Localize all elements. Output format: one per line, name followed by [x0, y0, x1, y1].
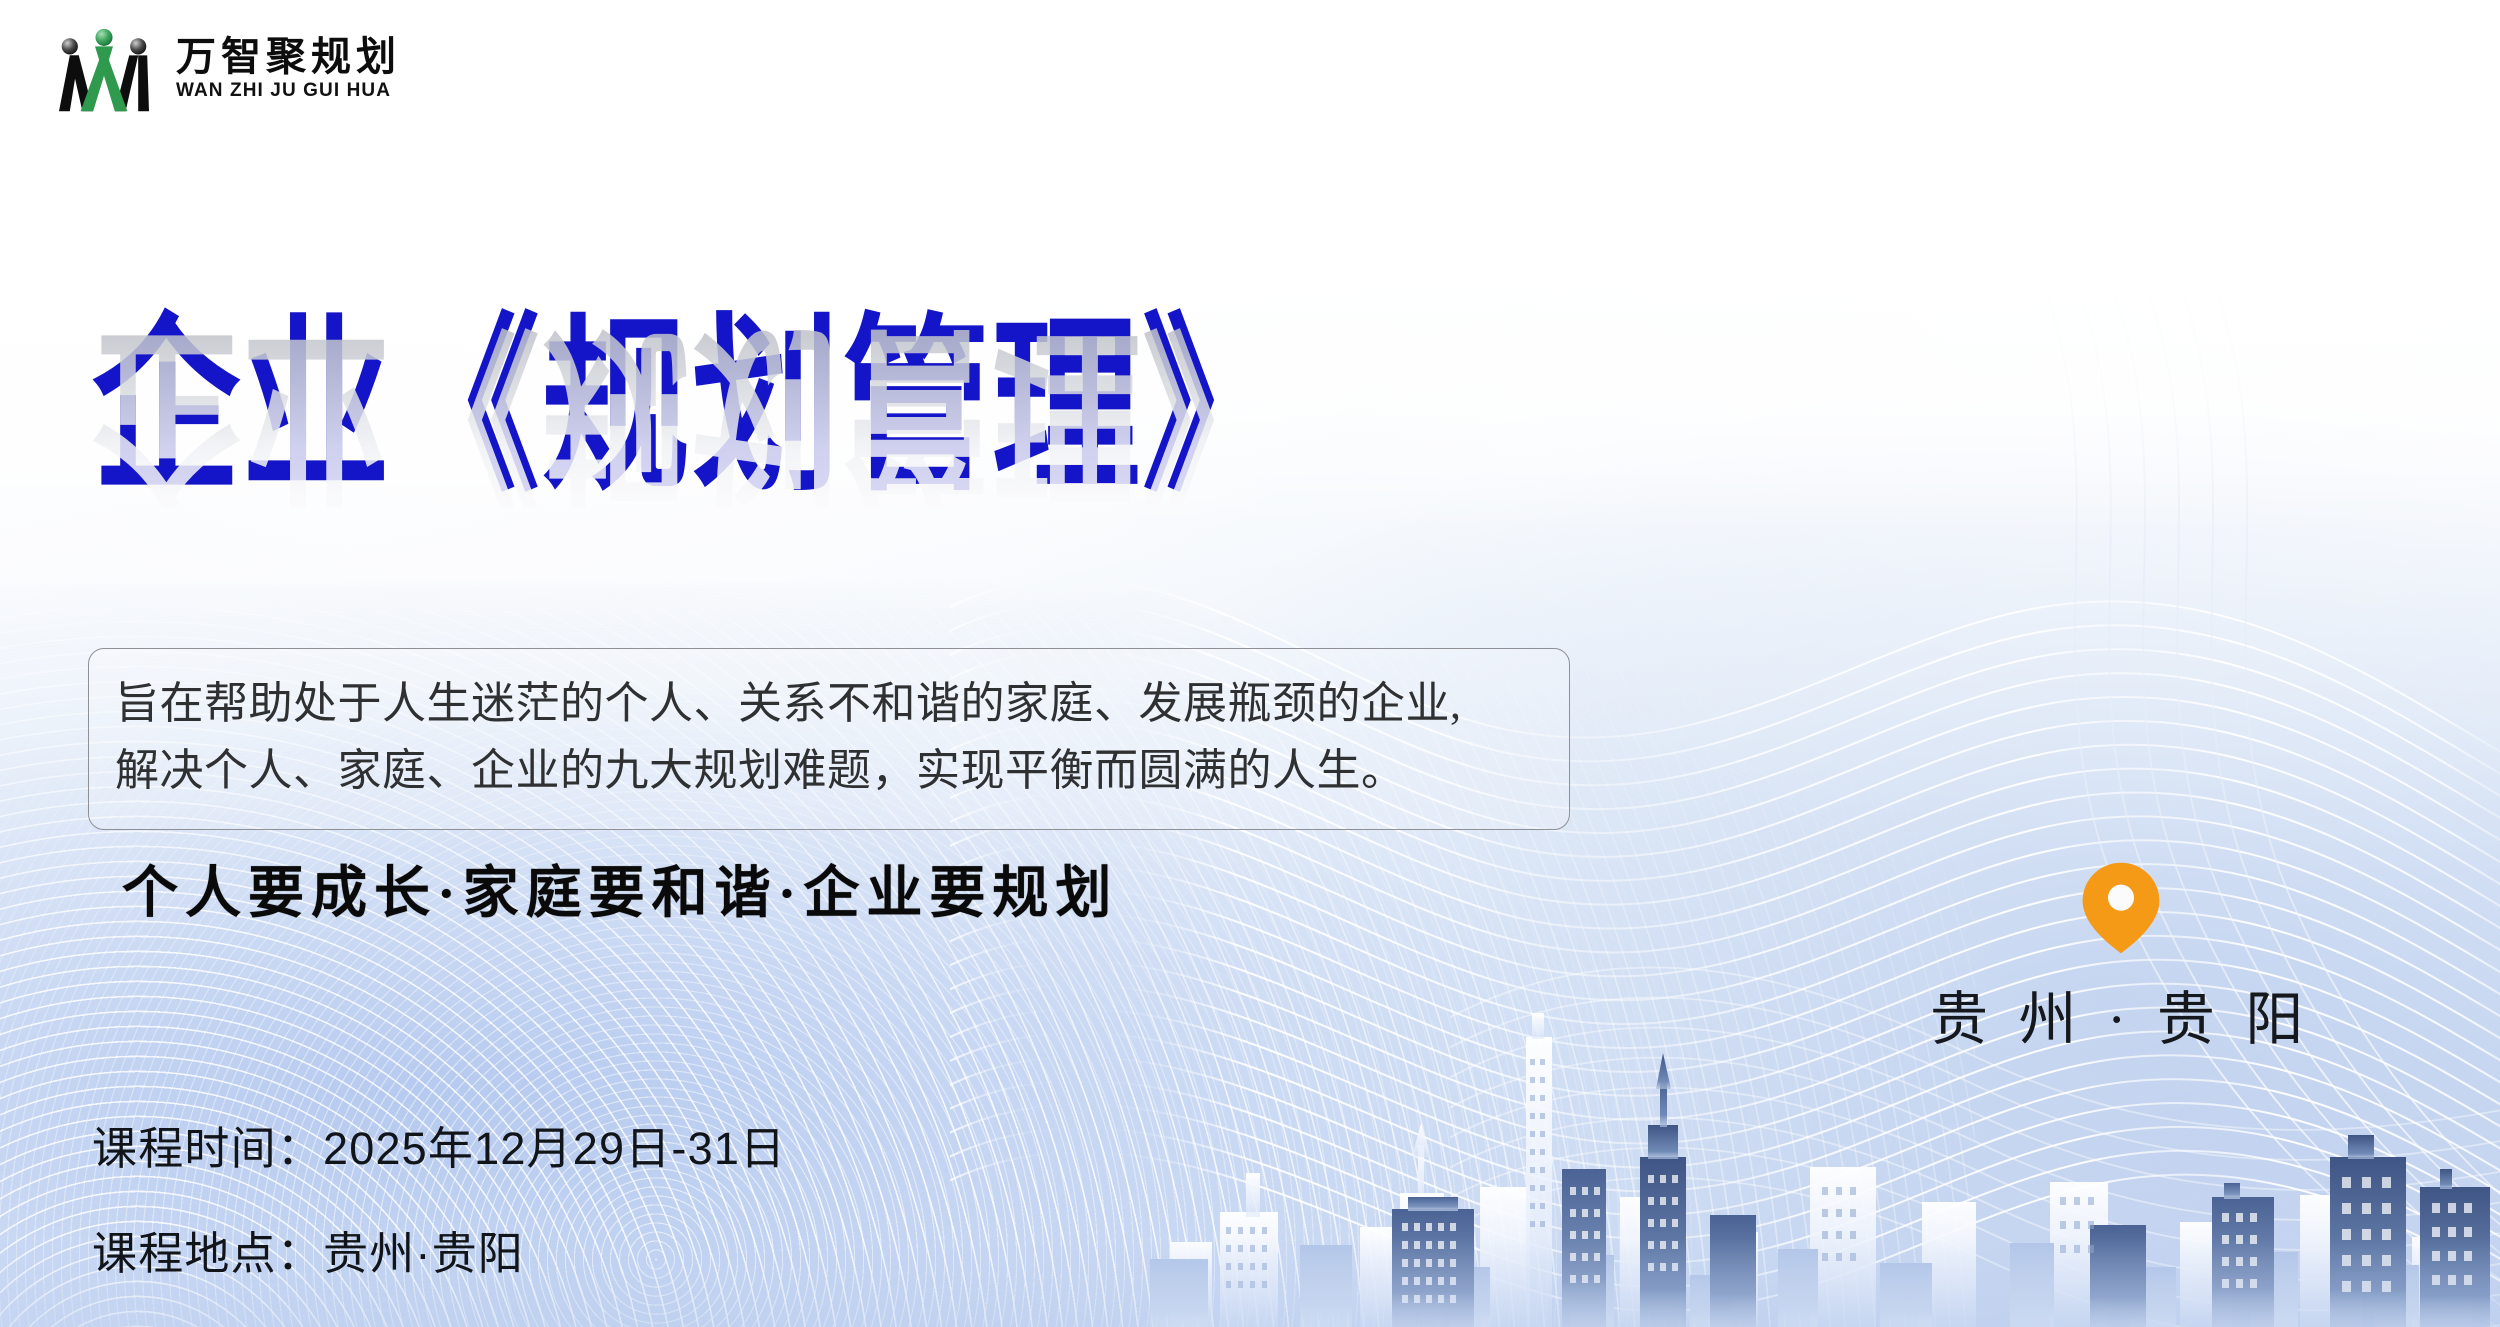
brand-name-cn: 万智聚规划	[176, 37, 401, 77]
map-pin-icon	[2079, 860, 2163, 956]
brand-text: 万智聚规划 WAN ZHI JU GUI HUA	[176, 37, 401, 100]
brand-logo[interactable]: 万智聚规划 WAN ZHI JU GUI HUA	[50, 22, 401, 114]
description-line-1: 旨在帮助处于人生迷茫的个人、关系不和谐的家庭、发展瓶颈的企业,	[115, 671, 1543, 738]
tagline: 个人要成长·家庭要和谐·企业要规划	[122, 848, 1118, 929]
brand-name-pinyin: WAN ZHI JU GUI HUA	[176, 81, 401, 100]
description-line-2: 解决个人、家庭、企业的九大规划难题，实现平衡而圆满的人生。	[115, 738, 1543, 805]
location-label: 贵 州 · 贵 阳	[1930, 972, 2311, 1056]
description-box: 旨在帮助处于人生迷茫的个人、关系不和谐的家庭、发展瓶颈的企业, 解决个人、家庭、…	[88, 648, 1570, 830]
course-time: 课程时间：2025年12月29日-31日	[92, 1112, 786, 1177]
course-place: 课程地点：贵州·贵阳	[92, 1217, 786, 1282]
location-block: 贵 州 · 贵 阳	[1930, 860, 2311, 1056]
page-title: 企业《规划管理》	[92, 312, 1292, 505]
course-info: 课程时间：2025年12月29日-31日 课程地点：贵州·贵阳	[92, 1112, 786, 1282]
hero-title-block: 企业《规划管理》 企业《规划管理》	[92, 312, 1292, 463]
three-people-logo-icon	[50, 22, 158, 114]
